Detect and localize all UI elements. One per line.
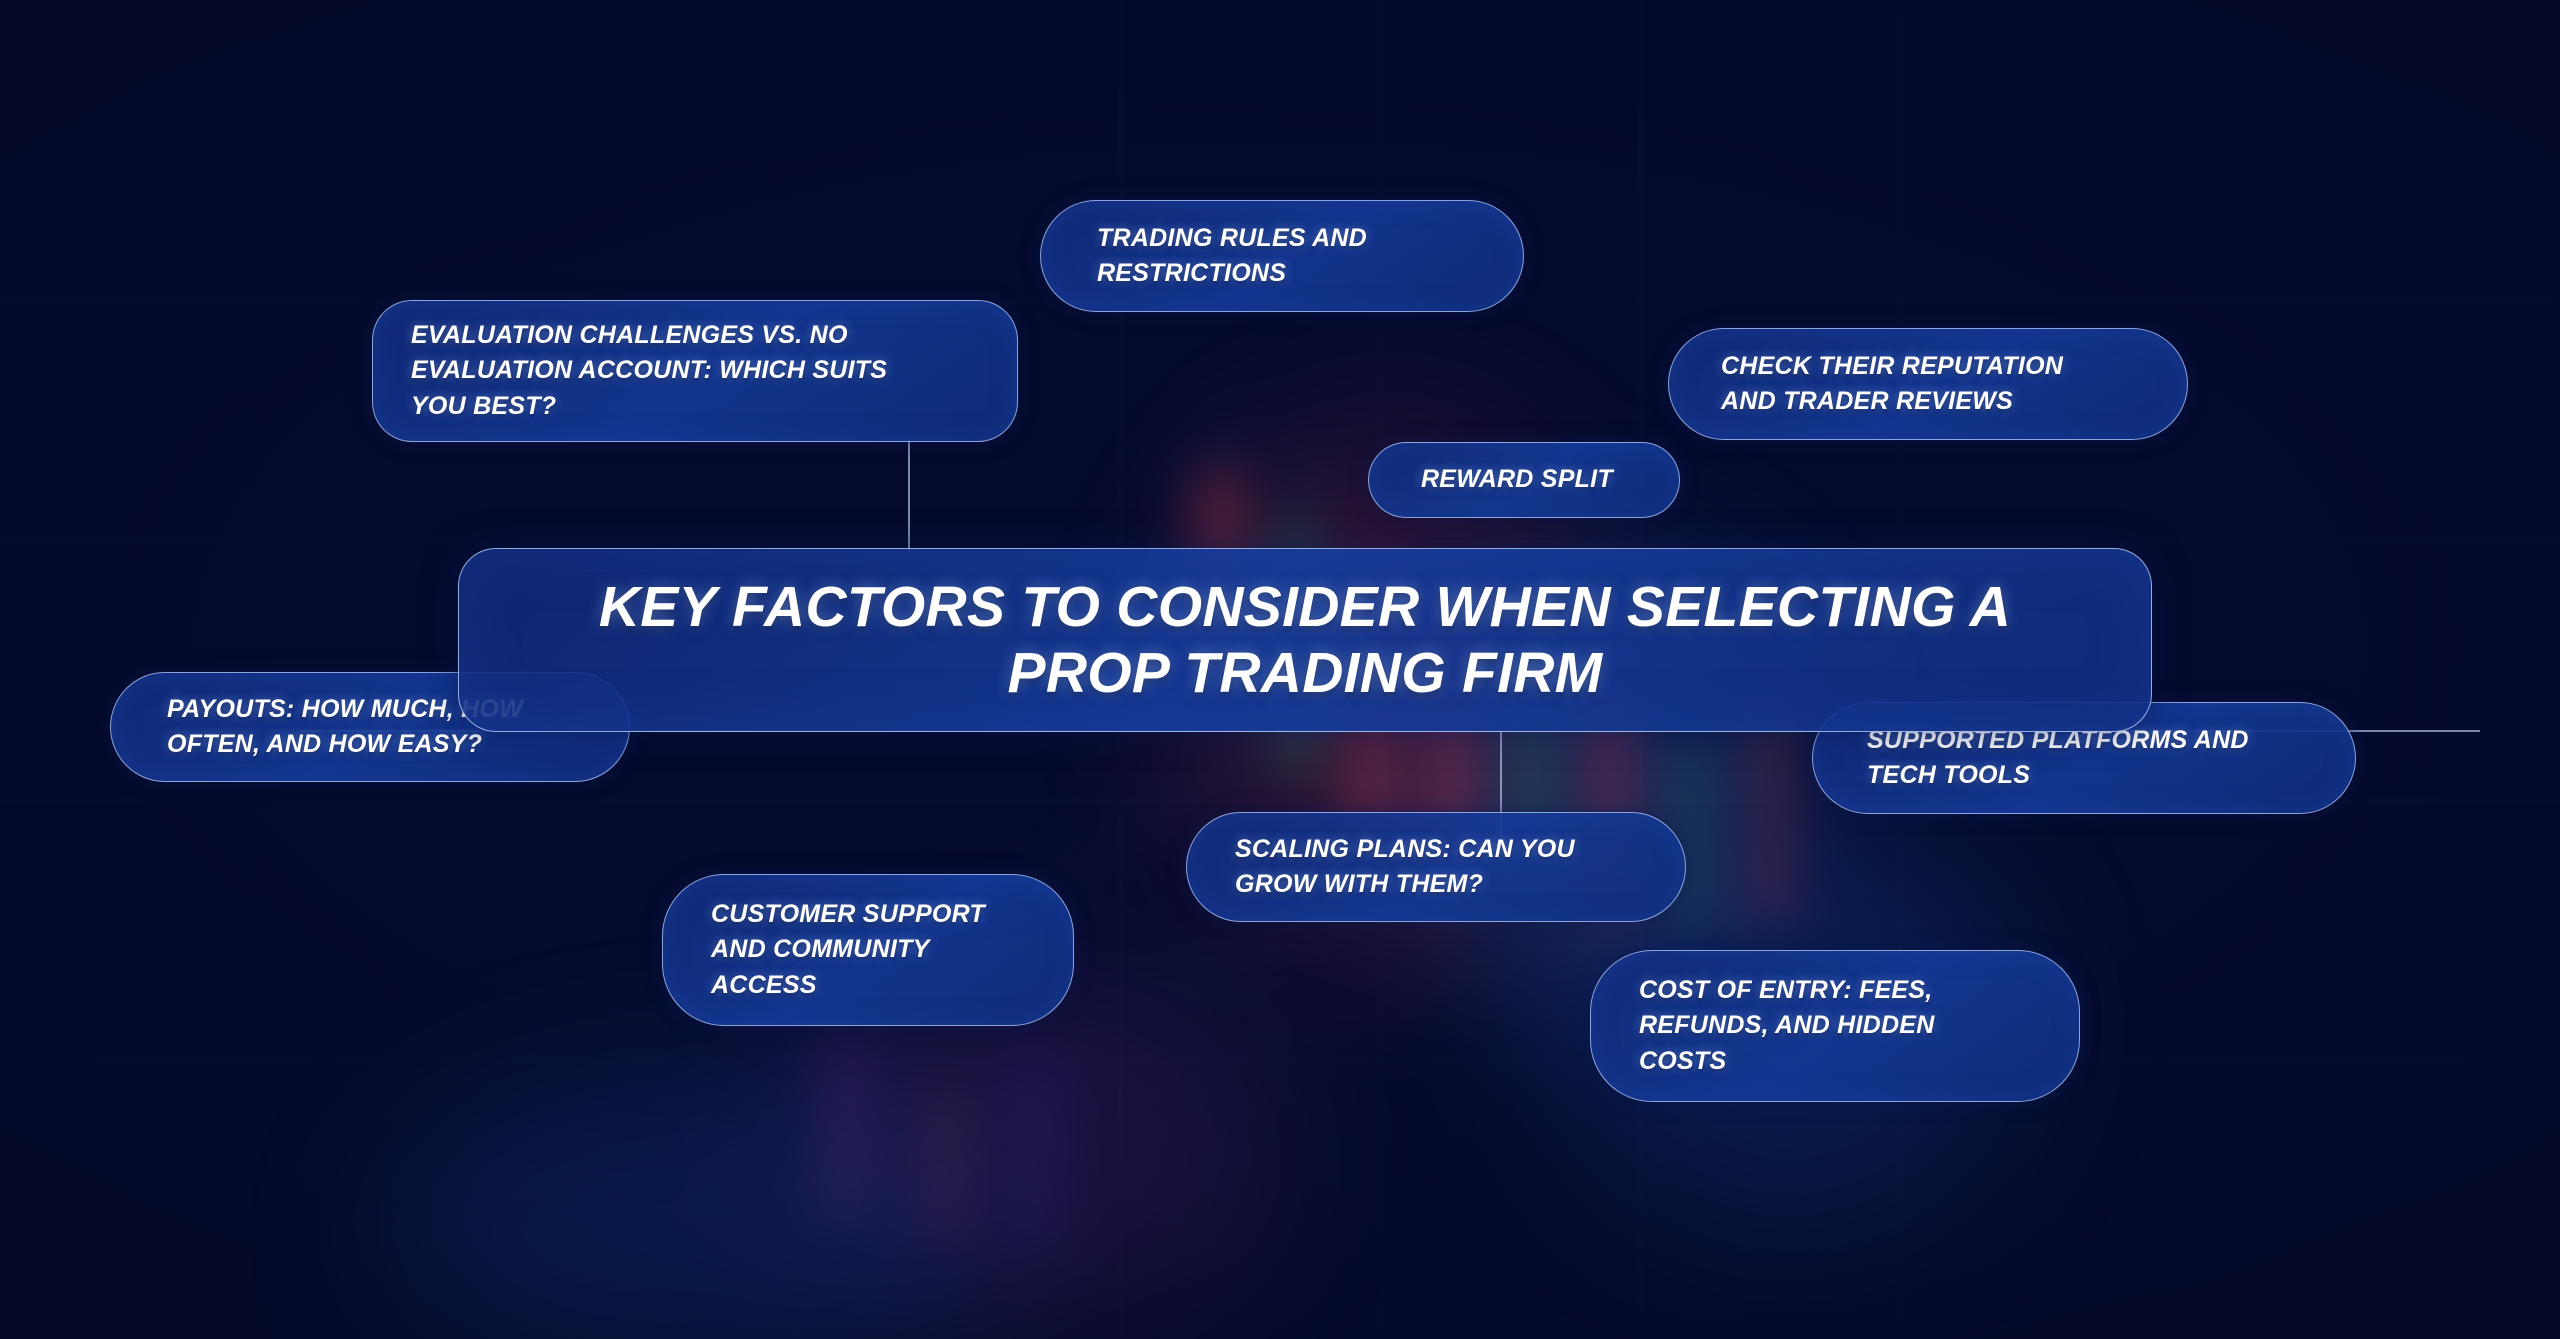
node-cost-of-entry-label: COST OF ENTRY: FEES, REFUNDS, AND HIDDEN… bbox=[1591, 973, 1959, 1080]
node-cost-of-entry[interactable]: COST OF ENTRY: FEES, REFUNDS, AND HIDDEN… bbox=[1590, 950, 2080, 1102]
node-reward-split[interactable]: REWARD SPLIT bbox=[1368, 442, 1680, 518]
center-title-box: KEY FACTORS TO CONSIDER WHEN SELECTING A… bbox=[458, 548, 2152, 732]
node-customer-support[interactable]: CUSTOMER SUPPORT AND COMMUNITY ACCESS bbox=[662, 874, 1074, 1026]
infographic-canvas: TRADING RULES AND RESTRICTIONS EVALUATIO… bbox=[0, 0, 2560, 1339]
node-customer-support-label: CUSTOMER SUPPORT AND COMMUNITY ACCESS bbox=[663, 897, 1009, 1004]
node-evaluation-challenges[interactable]: EVALUATION CHALLENGES VS. NO EVALUATION … bbox=[372, 300, 1018, 442]
node-scaling-plans-label: SCALING PLANS: CAN YOU GROW WITH THEM? bbox=[1187, 832, 1603, 903]
node-reputation-reviews[interactable]: CHECK THEIR REPUTATION AND TRADER REVIEW… bbox=[1668, 328, 2188, 440]
node-trading-rules[interactable]: TRADING RULES AND RESTRICTIONS bbox=[1040, 200, 1524, 312]
node-reward-split-label: REWARD SPLIT bbox=[1369, 462, 1643, 498]
node-reputation-reviews-label: CHECK THEIR REPUTATION AND TRADER REVIEW… bbox=[1669, 349, 2093, 420]
node-evaluation-challenges-label: EVALUATION CHALLENGES VS. NO EVALUATION … bbox=[373, 318, 917, 425]
node-supported-platforms-label: SUPPORTED PLATFORMS AND TECH TOOLS bbox=[1813, 723, 2277, 794]
connector-hero-up-left bbox=[908, 440, 910, 552]
node-scaling-plans[interactable]: SCALING PLANS: CAN YOU GROW WITH THEM? bbox=[1186, 812, 1686, 922]
page-title: KEY FACTORS TO CONSIDER WHEN SELECTING A… bbox=[599, 574, 2011, 706]
node-trading-rules-label: TRADING RULES AND RESTRICTIONS bbox=[1041, 221, 1401, 292]
